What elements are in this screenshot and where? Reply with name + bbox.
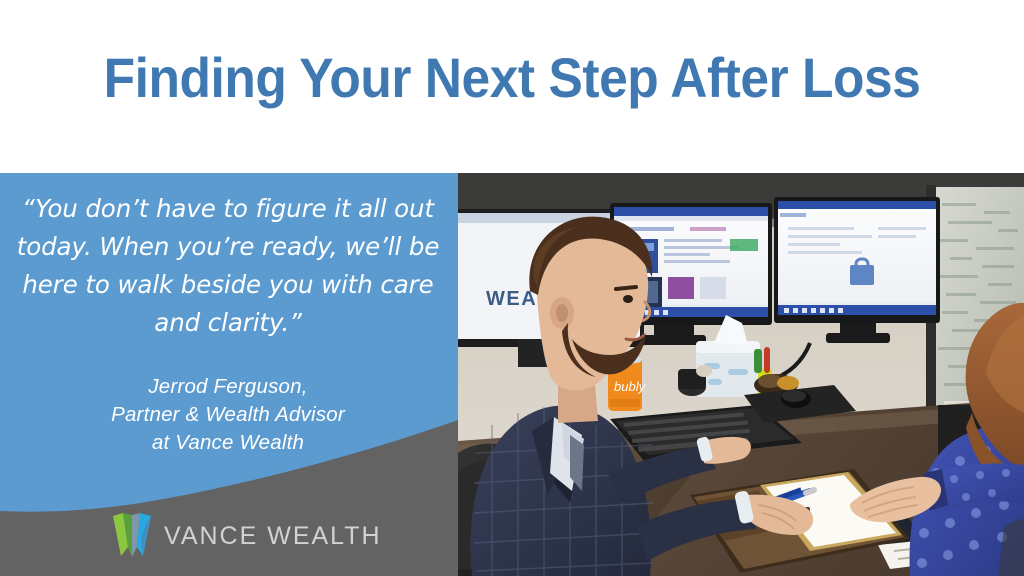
presentation-slide: Finding Your Next Step After Loss “You d… — [0, 0, 1024, 576]
title-band: Finding Your Next Step After Loss — [0, 0, 1024, 173]
logo-wordmark: VANCE WEALTH — [164, 522, 382, 551]
attribution-name: Jerrod Ferguson, — [8, 373, 448, 401]
attribution-firm: at Vance Wealth — [8, 429, 448, 457]
quote-attribution: Jerrod Ferguson, Partner & Wealth Adviso… — [8, 373, 448, 457]
slide-body: “You don’t have to figure it all out tod… — [0, 173, 1024, 576]
quote-block: “You don’t have to figure it all out tod… — [8, 190, 448, 342]
page-title: Finding Your Next Step After Loss — [41, 46, 983, 110]
vance-wealth-v-mark-icon — [113, 513, 151, 559]
attribution-title: Partner & Wealth Advisor — [8, 401, 448, 429]
quote-text: “You don’t have to figure it all out tod… — [8, 190, 448, 342]
office-meeting-photo: WEALTH — [458, 173, 1024, 576]
can-brand-text: bubly — [614, 379, 647, 394]
brand-logo: VANCE WEALTH — [113, 513, 382, 559]
